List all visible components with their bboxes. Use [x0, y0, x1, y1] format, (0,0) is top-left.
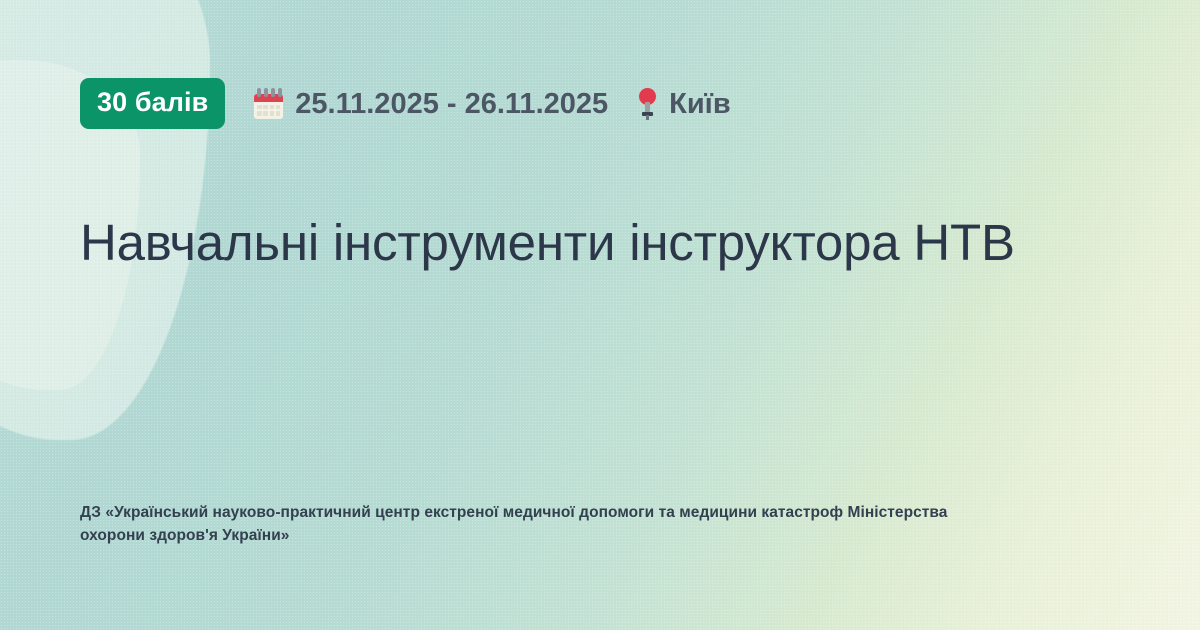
- calendar-cell: [263, 111, 268, 116]
- calendar-cell: [276, 111, 281, 116]
- event-card: 30 балів: [0, 0, 1200, 630]
- event-location-text: Київ: [669, 90, 731, 119]
- calendar-grid: [257, 105, 280, 116]
- calendar-ring: [271, 88, 275, 97]
- event-location: Київ: [636, 87, 731, 120]
- pin-icon: [636, 87, 658, 120]
- calendar-cell: [263, 105, 268, 110]
- event-date-text: 25.11.2025 - 26.11.2025: [295, 90, 608, 119]
- event-date: 25.11.2025 - 26.11.2025: [253, 88, 608, 120]
- calendar-cell: [270, 105, 275, 110]
- organizer-name: ДЗ «Український науково-практичний центр…: [80, 501, 980, 548]
- calendar-cell: [276, 105, 281, 110]
- meta-row: 30 балів: [80, 78, 731, 129]
- calendar-ring: [257, 88, 261, 97]
- calendar-cell: [257, 111, 262, 116]
- calendar-cell: [270, 111, 275, 116]
- calendar-icon: [253, 88, 284, 120]
- page-title: Навчальні інструменти інструктора НТВ: [80, 212, 1090, 273]
- pin-tip: [646, 115, 649, 120]
- points-badge: 30 балів: [80, 78, 225, 129]
- calendar-ring: [264, 88, 268, 97]
- calendar-cell: [257, 105, 262, 110]
- calendar-ring: [278, 88, 282, 97]
- card-content: 30 балів: [0, 0, 1200, 630]
